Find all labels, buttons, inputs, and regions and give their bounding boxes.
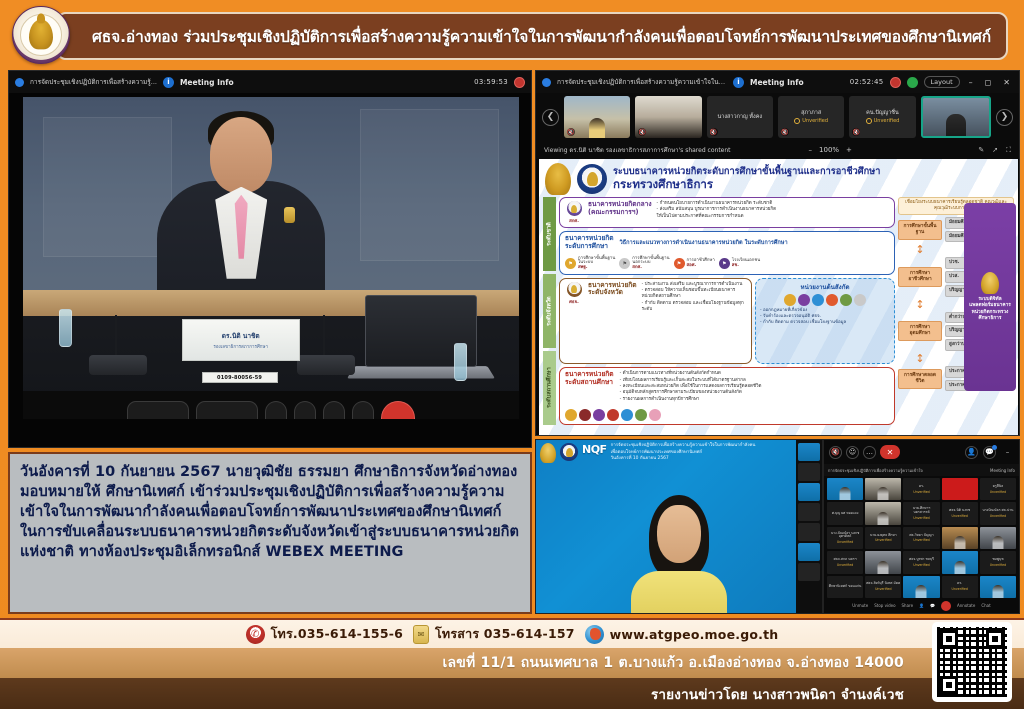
up-down-arrow-icon: ↕ bbox=[898, 353, 942, 364]
thumbnail-name: สุภาภาส bbox=[801, 110, 821, 116]
zoom-level-label: 100% bbox=[819, 146, 839, 154]
desk-id-plate: 0109-80056-59 bbox=[202, 372, 278, 383]
tile-name: ศธจ.นิติ บงกช bbox=[948, 509, 971, 513]
info-icon[interactable]: i bbox=[733, 77, 744, 88]
tile-16[interactable] bbox=[865, 551, 901, 573]
mute-button[interactable] bbox=[127, 401, 189, 419]
school-logo-row bbox=[565, 409, 661, 421]
participants-icon[interactable]: 👤 bbox=[919, 603, 924, 608]
box-province-credit-bank: ศธจ. ธนาคารหน่วยกิต ระดับจังหวัด - ประสา… bbox=[559, 278, 752, 364]
thumbnail-5-active[interactable] bbox=[921, 96, 991, 138]
box-edu-title: ธนาคารหน่วยกิต ระดับการศึกษา bbox=[565, 235, 614, 251]
parent-agency-logos bbox=[760, 294, 890, 306]
agency-logo-icon bbox=[565, 409, 577, 421]
tile-person bbox=[878, 561, 889, 574]
webex-app-icon bbox=[542, 78, 551, 87]
page-title: ศธจ.อ่างทอง ร่วมประชุมเชิงปฏิบัติการเพื่… bbox=[58, 24, 991, 49]
right-window-titlebar: การจัดประชุมเชิงปฏิบัติการเพื่อสร้างความ… bbox=[536, 71, 1019, 93]
overlay-line-0: การจัดประชุมเชิงปฏิบัติการเพื่อสร้างความ… bbox=[611, 443, 756, 450]
agency-logo-icon bbox=[607, 409, 619, 421]
province-badge-label: ศธจ. bbox=[569, 298, 579, 305]
water-bottle bbox=[454, 343, 467, 381]
garuda-emblem-icon bbox=[540, 443, 556, 463]
tile-17[interactable]: ศธจ.บูรพา ชลบุรี Unverified bbox=[903, 551, 939, 573]
grid-top-toolbar[interactable]: 🔇 ☺ … ✕ 👤 💬 – bbox=[824, 440, 1019, 464]
record-dot-icon[interactable] bbox=[890, 77, 901, 88]
tile-name: ศ.บุญ ยศ ทองแดง bbox=[831, 512, 860, 516]
tile-status: Unverified bbox=[837, 540, 853, 544]
zoom-out-icon[interactable]: – bbox=[809, 146, 813, 154]
bullet: ให้เป็นไปตามประกาศที่คณะกรรมการกำหนด bbox=[657, 214, 889, 220]
right-window-title: การจัดประชุมเชิงปฏิบัติการเพื่อสร้างความ… bbox=[557, 77, 727, 87]
mini-thumbnail[interactable] bbox=[798, 503, 820, 521]
box-school-bullets: - ดำเนินการตามแนวทางที่หน่วยงานต้นสังกัด… bbox=[620, 371, 762, 403]
tile-name: ศธจ.สกล นครฯ bbox=[833, 558, 858, 562]
side-thumbnail-rail[interactable] bbox=[796, 440, 822, 613]
garuda-emblem-icon bbox=[981, 272, 999, 294]
ministry-logo-icon bbox=[560, 443, 578, 461]
box-province-bullets: - ประสานงาน ส่งเสริม และบูรณาการการดำเนิ… bbox=[642, 282, 746, 314]
caption-box: วันอังคารที่ 10 กันยายน 2567 นายวุฒิชัย … bbox=[8, 452, 532, 614]
more-options-icon[interactable]: … bbox=[863, 446, 876, 459]
muted-icon: 🔇 bbox=[710, 128, 718, 136]
end-call-icon[interactable] bbox=[941, 601, 951, 611]
thumbnail-video bbox=[923, 98, 989, 136]
name-card-title: รองเลขาธิการสภาการศึกษา bbox=[213, 343, 268, 350]
mini-thumbnail[interactable] bbox=[798, 483, 820, 501]
participants-icon[interactable]: 👤 bbox=[965, 446, 978, 459]
tile-0[interactable] bbox=[827, 478, 863, 500]
laptop-keyboard bbox=[347, 366, 495, 378]
wall-panel bbox=[360, 109, 499, 261]
left-webex-window: การจัดประชุมเชิงปฏิบัติการเพื่อสร้างความ… bbox=[8, 70, 532, 448]
box-school-title: ธนาคารหน่วยกิต ระดับสถานศึกษา bbox=[565, 371, 614, 387]
tile-status: Unverified bbox=[990, 514, 1006, 518]
more-options-icon[interactable] bbox=[352, 401, 374, 419]
thumbnail-4[interactable]: คน.ปัญญาชื่น Unverified 🔇 bbox=[849, 96, 915, 138]
agency-seal-icon bbox=[567, 201, 582, 216]
tile-person bbox=[878, 487, 889, 500]
thumbnail-3[interactable]: สุภาภาส Unverified 🔇 bbox=[778, 96, 844, 138]
tile-name: นาย.ศึกษาฯ นครสวรรค์ bbox=[903, 507, 939, 514]
end-call-icon[interactable]: ✕ bbox=[880, 445, 900, 459]
thumbnail-2[interactable]: นางสาวกาญ ทั้งคง 🔇 bbox=[707, 96, 773, 138]
address-label: เลขที่ 11/1 ถนนเทศบาล 1 ต.บางแก้ว อ.เมือ… bbox=[442, 652, 904, 674]
tile-20[interactable]: ศึกษานิเทศก์ ขอนแก่น bbox=[827, 576, 863, 598]
agency-row: ⚑ การศึกษาขั้นพื้นฐาน ในระบบ สพฐ. ⚑ bbox=[565, 257, 760, 271]
tile-status: Unverified bbox=[913, 538, 929, 542]
tile-1[interactable] bbox=[865, 478, 901, 500]
tile-6[interactable] bbox=[865, 502, 901, 524]
parent-agency-title: หน่วยงานต้นสังกัด bbox=[760, 282, 890, 292]
tile-person bbox=[916, 585, 927, 598]
bottom-right-video[interactable]: NQF การจัดประชุมเชิงปฏิบัติการเพื่อสร้าง… bbox=[535, 439, 823, 614]
level-rail: ระดับชาติ ระดับจังหวัด ระดับสถานศึกษา bbox=[543, 197, 556, 425]
tile-person bbox=[954, 561, 965, 574]
agency-icon: ⚑ bbox=[719, 258, 730, 269]
tile-status: Unverified bbox=[952, 587, 968, 591]
wall-panel bbox=[43, 117, 172, 257]
viewing-text: Viewing ดร.นิติ นาชิต รองเลขาธิการสภาการ… bbox=[544, 145, 731, 155]
zoom-controls[interactable]: – 100% + bbox=[809, 146, 852, 154]
garuda-emblem-icon bbox=[545, 163, 571, 195]
slide-title-group: ระบบธนาคารหน่วยกิตระดับการศึกษาขั้นพื้นฐ… bbox=[613, 167, 880, 190]
tile-12[interactable]: ศธ.วิทยา ปัญญา Unverified bbox=[903, 527, 939, 549]
tile-13[interactable] bbox=[942, 527, 978, 549]
tile-2[interactable]: ดร. Unverified bbox=[903, 478, 939, 500]
parent-agency-bullets: - ออกกฎหมายที่เกี่ยวข้อง - รับคำร้องและต… bbox=[760, 308, 890, 327]
footer-address-row: เลขที่ 11/1 ถนนเทศบาล 1 ต.บางแก้ว อ.เมือ… bbox=[0, 648, 1024, 678]
mini-thumbnail[interactable] bbox=[798, 563, 820, 581]
agency-text-3: โรงเรียนเอกชน สช. bbox=[732, 259, 760, 268]
tile-status: Unverified bbox=[990, 490, 1006, 494]
rail-label-national: ระดับชาติ bbox=[543, 197, 556, 271]
muted-icon: 🔇 bbox=[567, 128, 575, 136]
ministry-logo-icon bbox=[577, 164, 607, 194]
name-card-name: ดร.นิติ นาชิต bbox=[222, 331, 260, 341]
participants-icon[interactable] bbox=[294, 401, 316, 419]
nqf-logo-icon: NQF bbox=[582, 443, 607, 456]
grid-subbar-title: การจัดประชุมเชิงปฏิบัติการเพื่อสร้างความ… bbox=[828, 467, 923, 474]
tile-24[interactable] bbox=[980, 576, 1016, 598]
tile-name: ศธจ.บูรพา ชลบุรี bbox=[908, 558, 935, 562]
province-badge: ศธจ. bbox=[565, 282, 583, 305]
tile-name: ศธจ.สิงห์บุรี นิเทศ มัคค bbox=[865, 582, 901, 586]
grid-subbar-right[interactable]: Meeting Info bbox=[990, 468, 1015, 473]
box-parent-agency: หน่วยงานต้นสังกัด bbox=[755, 278, 895, 364]
speaker-figure bbox=[631, 495, 727, 613]
mini-thumbnail[interactable] bbox=[798, 443, 820, 461]
box-edu-heading: วิธีการและแนวทางการดำเนินงานธนาคารหน่วยก… bbox=[620, 239, 788, 247]
agency-icon: ⚑ bbox=[619, 258, 630, 269]
digital-platform-text: ระบบดิจิทัลแพลตฟอร์มธนาคารหน่วยกิตกระทรว… bbox=[968, 297, 1012, 323]
bullet: - เทียบโอนผลการเรียนรู้และเก็บสะสมในระบบ… bbox=[620, 378, 762, 384]
minimize-icon[interactable]: – bbox=[1001, 446, 1014, 459]
agency-logo-icon bbox=[649, 409, 661, 421]
left-window-title: การจัดประชุมเชิงปฏิบัติการเพื่อสร้างความ… bbox=[30, 77, 157, 87]
close-icon[interactable]: ✕ bbox=[1000, 78, 1013, 87]
qr-finder-pattern bbox=[940, 676, 958, 694]
media-area: การจัดประชุมเชิงปฏิบัติการเพื่อสร้างความ… bbox=[0, 66, 1024, 618]
box-central-title: ธนาคารหน่วยกิตกลาง (คณะกรรมการฯ) bbox=[588, 201, 652, 217]
tile-4[interactable]: ครูสีนิล Unverified bbox=[980, 478, 1016, 500]
bullet: - รายงานผลการดำเนินงานทุกปีการศึกษา bbox=[620, 397, 762, 403]
tile-3[interactable] bbox=[942, 478, 978, 500]
tile-status: Unverified bbox=[952, 514, 968, 518]
box-central-title-line2: (คณะกรรมการฯ) bbox=[588, 209, 652, 217]
tile-5[interactable]: ศ.บุญ ยศ ทองแดง bbox=[827, 502, 863, 524]
tile-14[interactable] bbox=[980, 527, 1016, 549]
tile-person bbox=[840, 487, 851, 500]
tile-19[interactable]: ชมพูนุช Unverified bbox=[980, 551, 1016, 573]
slide-title-line2: กระทรวงศึกษาธิการ bbox=[613, 178, 880, 191]
qr-finder-pattern bbox=[986, 630, 1004, 648]
tile-status: Unverified bbox=[913, 516, 929, 520]
unmute-button[interactable]: Unmute bbox=[852, 603, 868, 608]
share-screen-icon[interactable] bbox=[265, 401, 287, 419]
qr-finder-pattern bbox=[940, 630, 958, 648]
rail-level-1: การศึกษาอาชีวศึกษา bbox=[898, 267, 942, 287]
globe-icon bbox=[585, 625, 604, 644]
tile-9[interactable]: นางปัณณ์ธร ศธ.น่าน Unverified bbox=[980, 502, 1016, 524]
video-overlay-header: NQF การจัดประชุมเชิงปฏิบัติการเพื่อสร้าง… bbox=[540, 443, 818, 463]
tile-person bbox=[992, 536, 1003, 549]
agency-text-1: การศึกษาขั้นพื้นฐาน นอกระบบ สกศ. bbox=[632, 257, 669, 271]
tile-status: Unverified bbox=[913, 563, 929, 567]
overlay-line-2: วันอังคารที่ 10 กันยายน 2567 bbox=[611, 456, 756, 463]
website-label[interactable]: www.atgpeo.moe.go.th bbox=[610, 627, 779, 642]
box-province-title: ธนาคารหน่วยกิต ระดับจังหวัด bbox=[588, 282, 637, 298]
footer-contact-row: ✆ โทร.035-614-155-6 ✉ โทรสาร 035-614-157… bbox=[0, 618, 1024, 648]
mini-thumbnail[interactable] bbox=[798, 543, 820, 561]
slide-body: ระดับชาติ ระดับจังหวัด ระดับสถานศึกษา สก… bbox=[539, 197, 1018, 429]
bullet: - กำกับ ติดตาม ตรวจสอบ เชื่อมโยงฐานข้อมู… bbox=[760, 320, 890, 326]
left-main-video[interactable]: ดร.นิติ นาชิต รองเลขาธิการสภาการศึกษา 01… bbox=[23, 97, 519, 419]
tile-23[interactable]: ดร. Unverified bbox=[942, 576, 978, 598]
webex-app-icon bbox=[15, 78, 24, 87]
box-school-title-line2: ระดับสถานศึกษา bbox=[565, 379, 614, 387]
bullet: - อนุมัติจบหลักสูตรการศึกษาตามระเบียบของ… bbox=[620, 390, 762, 396]
box-edu-title-line2: ระดับการศึกษา bbox=[565, 243, 614, 251]
agency-seal-icon bbox=[567, 282, 582, 297]
rail-level-2: การศึกษาอุดมศึกษา bbox=[898, 321, 942, 341]
box-central-bullets: - กำหนดนโยบายการดำเนินงานธนาคารหน่วยกิต … bbox=[657, 201, 889, 220]
tile-name: ศึกษานิเทศก์ ขอนแก่น bbox=[828, 585, 863, 589]
agency-text-0: การศึกษาขั้นพื้นฐาน ในระบบ สพฐ. bbox=[578, 257, 615, 271]
start-video-button[interactable] bbox=[196, 401, 258, 419]
tile-name: นาย.ยงยุทธ ศึกษา bbox=[869, 534, 898, 538]
tile-person bbox=[954, 536, 965, 549]
mute-icon[interactable]: 🔇 bbox=[829, 446, 842, 459]
agency-text-2: การอาชีวศึกษา สอศ. bbox=[687, 259, 715, 268]
tile-status: Unverified bbox=[875, 587, 891, 591]
record-dot-icon[interactable] bbox=[514, 77, 525, 88]
news-graphic-page: ศธจ.อ่างทอง ร่วมประชุมเชิงปฏิบัติการเพื่… bbox=[0, 0, 1024, 709]
footer-website[interactable]: www.atgpeo.moe.go.th bbox=[585, 625, 779, 644]
slide-center-column: สกศ. ธนาคารหน่วยกิตกลาง (คณะกรรมการฯ) - … bbox=[559, 197, 895, 425]
speaker-shirt bbox=[631, 571, 727, 613]
page-footer: ✆ โทร.035-614-155-6 ✉ โทรสาร 035-614-157… bbox=[0, 618, 1024, 709]
tile-person bbox=[878, 512, 889, 525]
connection-status-icon[interactable] bbox=[907, 77, 918, 88]
microphone-base bbox=[89, 355, 147, 375]
rail-level-0: การศึกษาขั้นพื้นฐาน bbox=[898, 220, 942, 240]
box-education-level: ธนาคารหน่วยกิต ระดับการศึกษา วิธีการและแ… bbox=[559, 231, 895, 275]
tile-person bbox=[992, 585, 1003, 598]
chevron-right-icon[interactable]: ❯ bbox=[996, 109, 1013, 126]
bullet: - ตรวจสอบ ให้ความเห็นชอบขึ้นทะเบียนธนาคา… bbox=[642, 288, 746, 301]
agency-logo-icon bbox=[593, 409, 605, 421]
grid-subbar: การจัดประชุมเชิงปฏิบัติการเพื่อสร้างความ… bbox=[824, 464, 1019, 476]
box-central-credit-bank: สกศ. ธนาคารหน่วยกิตกลาง (คณะกรรมการฯ) - … bbox=[559, 197, 895, 228]
tile-status: Unverified bbox=[875, 538, 891, 542]
caption-text: วันอังคารที่ 10 กันยายน 2567 นายวุฒิชัย … bbox=[10, 454, 530, 562]
fullscreen-icon[interactable]: ⛶ bbox=[1006, 146, 1011, 155]
share-button[interactable]: Share bbox=[902, 603, 914, 608]
agency-item-0: ⚑ การศึกษาขั้นพื้นฐาน ในระบบ สพฐ. bbox=[565, 257, 615, 271]
reporter-label: รายงานข่าวโดย นางสาวพนิดา จำนงค์เวช bbox=[651, 683, 904, 705]
meeting-info-label[interactable]: Meeting Info bbox=[180, 78, 234, 87]
thumbnail-name: คน.ปัญญาชื่น bbox=[866, 110, 899, 116]
province-row: ศธจ. ธนาคารหน่วยกิต ระดับจังหวัด - ประสา… bbox=[559, 278, 895, 364]
chat-icon[interactable] bbox=[323, 401, 345, 419]
rail-level-3: การศึกษาตลอดชีวิต bbox=[898, 369, 942, 389]
footer-phone: ✆ โทร.035-614-155-6 bbox=[246, 624, 403, 644]
header-title-plate: ศธจ.อ่างทอง ร่วมประชุมเชิงปฏิบัติการเพื่… bbox=[56, 12, 1008, 60]
mini-thumbnail[interactable] bbox=[798, 523, 820, 541]
phone-label: โทร.035-614-155-6 bbox=[271, 624, 403, 644]
grid-subbar-info[interactable]: Meeting Info bbox=[990, 468, 1015, 473]
left-window-titlebar: การจัดประชุมเชิงปฏิบัติการเพื่อสร้างความ… bbox=[9, 71, 531, 93]
end-call-icon[interactable] bbox=[381, 401, 415, 419]
participant-thumbnail-strip[interactable]: ❮ 🔇 🔇 นางสาวกาญ ทั้งคง 🔇 สุภาภาส Unverif… bbox=[536, 93, 1019, 141]
up-down-arrow-icon: ↕ bbox=[898, 299, 942, 310]
thumbnail-name: นางสาวกาญ ทั้งคง bbox=[718, 114, 763, 120]
tile-status: Unverified bbox=[990, 563, 1006, 567]
digital-platform-panel: ระบบดิจิทัลแพลตฟอร์มธนาคารหน่วยกิตกระทรว… bbox=[964, 203, 1016, 391]
muted-icon: 🔇 bbox=[781, 128, 789, 136]
grid-bottom-toolbar[interactable]: Unmute Stop video Share 👤 💬 Annotate Cha… bbox=[824, 598, 1019, 613]
participant-grid-window: 🔇 ☺ … ✕ 👤 💬 – การจัดประชุมเชิงปฏิบัติการ… bbox=[823, 439, 1020, 614]
seal-emblem-shape bbox=[29, 19, 53, 49]
box-school-credit-bank: ธนาคารหน่วยกิต ระดับสถานศึกษา - ดำเนินกา… bbox=[559, 367, 895, 425]
page-header: ศธจ.อ่างทอง ร่วมประชุมเชิงปฏิบัติการเพื่… bbox=[0, 0, 1024, 70]
tile-11[interactable]: นาย.ยงยุทธ ศึกษา Unverified bbox=[865, 527, 901, 549]
tile-name: นาง.ปัณณ์ธร บงกช อุตรดิตถ์ bbox=[827, 532, 863, 539]
meeting-info-label[interactable]: Meeting Info bbox=[750, 78, 804, 87]
thumbnail-1[interactable]: 🔇 bbox=[635, 96, 701, 138]
rail-label-province: ระดับจังหวัด bbox=[543, 274, 556, 348]
id-plate-text: 0109-80056-59 bbox=[217, 375, 262, 381]
agency-icon: ⚑ bbox=[674, 258, 685, 269]
central-badge-label: สกศ. bbox=[569, 217, 579, 224]
tile-status: Unverified bbox=[837, 563, 853, 567]
left-meeting-toolbar[interactable] bbox=[23, 391, 519, 419]
water-bottle bbox=[59, 309, 72, 347]
microphone-stem bbox=[115, 315, 117, 359]
microphone-base bbox=[297, 355, 355, 375]
chat-icon[interactable]: 💬 bbox=[983, 446, 996, 459]
agency-logo-icon bbox=[784, 294, 796, 306]
viewing-status-bar: Viewing ดร.นิติ นาชิต รองเลขาธิการสภาการ… bbox=[536, 141, 1019, 159]
rail-label-school: ระดับสถานศึกษา bbox=[543, 351, 556, 425]
viewing-bar-icons[interactable]: ✎ ➚ ⛶ bbox=[978, 146, 1011, 155]
chevron-left-icon[interactable]: ❮ bbox=[542, 109, 559, 126]
fax-icon: ✉ bbox=[413, 625, 429, 644]
muted-icon: 🔇 bbox=[638, 128, 646, 136]
thumbnail-0[interactable]: 🔇 bbox=[564, 96, 630, 138]
slide-header: ระบบธนาคารหน่วยกิตระดับการศึกษาขั้นพื้นฐ… bbox=[539, 159, 1018, 197]
ministry-seal-icon bbox=[12, 6, 70, 64]
central-badge: สกศ. bbox=[565, 201, 583, 224]
microphone-stem bbox=[323, 315, 325, 359]
tile-21[interactable]: ศธจ.สิงห์บุรี นิเทศ มัคค Unverified bbox=[865, 576, 901, 598]
agency-logo-icon bbox=[826, 294, 838, 306]
right-meeting-timer: 02:52:45 bbox=[850, 78, 884, 86]
bullet: - กำกับ ติดตาม ตรวจสอบ และเชื่อมโยงฐานข้… bbox=[642, 301, 746, 314]
tile-status: Unverified bbox=[913, 490, 929, 494]
shared-slide[interactable]: ระบบธนาคารหน่วยกิตระดับการศึกษาขั้นพื้นฐ… bbox=[539, 159, 1018, 435]
qr-code-icon[interactable] bbox=[932, 622, 1012, 702]
desk-name-card: ดร.นิติ นาชิต รองเลขาธิการสภาการศึกษา bbox=[182, 319, 300, 361]
stop-video-button[interactable]: Stop video bbox=[874, 603, 895, 608]
up-down-arrow-icon: ↕ bbox=[898, 244, 942, 255]
fax-label: โทรสาร 035-614-157 bbox=[435, 624, 575, 644]
participant-tiles[interactable]: ดร. Unverified ครูสีนิล Unverified ศ.บุญ… bbox=[827, 478, 1016, 598]
right-webex-window: การจัดประชุมเชิงปฏิบัติการเพื่อสร้างความ… bbox=[535, 70, 1020, 436]
box-province-title-line2: ระดับจังหวัด bbox=[588, 289, 637, 297]
tile-15[interactable]: ศธจ.สกล นครฯ Unverified bbox=[827, 551, 863, 573]
agency-logo-icon bbox=[798, 294, 810, 306]
muted-icon: 🔇 bbox=[852, 128, 860, 136]
tile-22[interactable] bbox=[903, 576, 939, 598]
pointer-icon[interactable]: ➚ bbox=[992, 146, 998, 155]
zoom-in-icon[interactable]: + bbox=[846, 146, 852, 154]
tile-7[interactable]: นาย.ศึกษาฯ นครสวรรค์ Unverified bbox=[903, 502, 939, 524]
reaction-icon[interactable]: ☺ bbox=[846, 446, 859, 459]
video-overlay-lines: การจัดประชุมเชิงปฏิบัติการเพื่อสร้างความ… bbox=[611, 443, 756, 463]
tile-8[interactable]: ศธจ.นิติ บงกช Unverified bbox=[942, 502, 978, 524]
speaker-face bbox=[657, 505, 701, 563]
annotate-icon[interactable]: ✎ bbox=[978, 146, 984, 155]
tile-name: ชมพูนุช bbox=[991, 558, 1004, 562]
info-icon[interactable]: i bbox=[163, 77, 174, 88]
agency-logo-icon bbox=[840, 294, 852, 306]
tile-name: นางปัณณ์ธร ศธ.น่าน bbox=[981, 509, 1014, 513]
agency-icon: ⚑ bbox=[565, 258, 576, 269]
tile-name: ดร. bbox=[956, 582, 963, 586]
tile-name: ครูสีนิล bbox=[992, 485, 1005, 489]
chat-button[interactable]: Chat bbox=[981, 603, 990, 608]
tile-18[interactable] bbox=[942, 551, 978, 573]
grid-top-right-icons[interactable]: 👤 💬 – bbox=[965, 446, 1014, 459]
phone-icon: ✆ bbox=[246, 625, 265, 644]
agency-logo-icon bbox=[621, 409, 633, 421]
mini-thumbnail[interactable] bbox=[798, 463, 820, 481]
tile-name: ดร. bbox=[918, 485, 925, 489]
speaker-lapel-pin bbox=[284, 207, 295, 223]
agency-item-3: ⚑ โรงเรียนเอกชน สช. bbox=[719, 258, 760, 269]
footer-reporter-row: รายงานข่าวโดย นางสาวพนิดา จำนงค์เวช bbox=[0, 678, 1024, 709]
thumbnail-status: Unverified bbox=[794, 118, 828, 124]
agency-item-2: ⚑ การอาชีวศึกษา สอศ. bbox=[674, 258, 715, 269]
maximize-icon[interactable]: ◻ bbox=[982, 78, 995, 87]
speaker-head bbox=[210, 117, 272, 193]
footer-fax: ✉ โทรสาร 035-614-157 bbox=[413, 624, 575, 644]
thumbnail-status: Unverified bbox=[866, 118, 900, 124]
agency-logo-icon bbox=[635, 409, 647, 421]
agency-logo-icon bbox=[854, 294, 866, 306]
chat-icon[interactable]: 💬 bbox=[930, 603, 935, 608]
agency-logo-icon bbox=[579, 409, 591, 421]
agency-logo-icon bbox=[812, 294, 824, 306]
layout-button[interactable]: Layout bbox=[924, 76, 960, 88]
tile-name: ศธ.วิทยา ปัญญา bbox=[908, 534, 934, 538]
agency-item-1: ⚑ การศึกษาขั้นพื้นฐาน นอกระบบ สกศ. bbox=[619, 257, 669, 271]
tile-10[interactable]: นาง.ปัณณ์ธร บงกช อุตรดิตถ์ Unverified bbox=[827, 527, 863, 549]
annotate-button[interactable]: Annotate bbox=[957, 603, 975, 608]
left-meeting-timer: 03:59:53 bbox=[474, 78, 508, 86]
minimize-icon[interactable]: – bbox=[966, 78, 976, 87]
